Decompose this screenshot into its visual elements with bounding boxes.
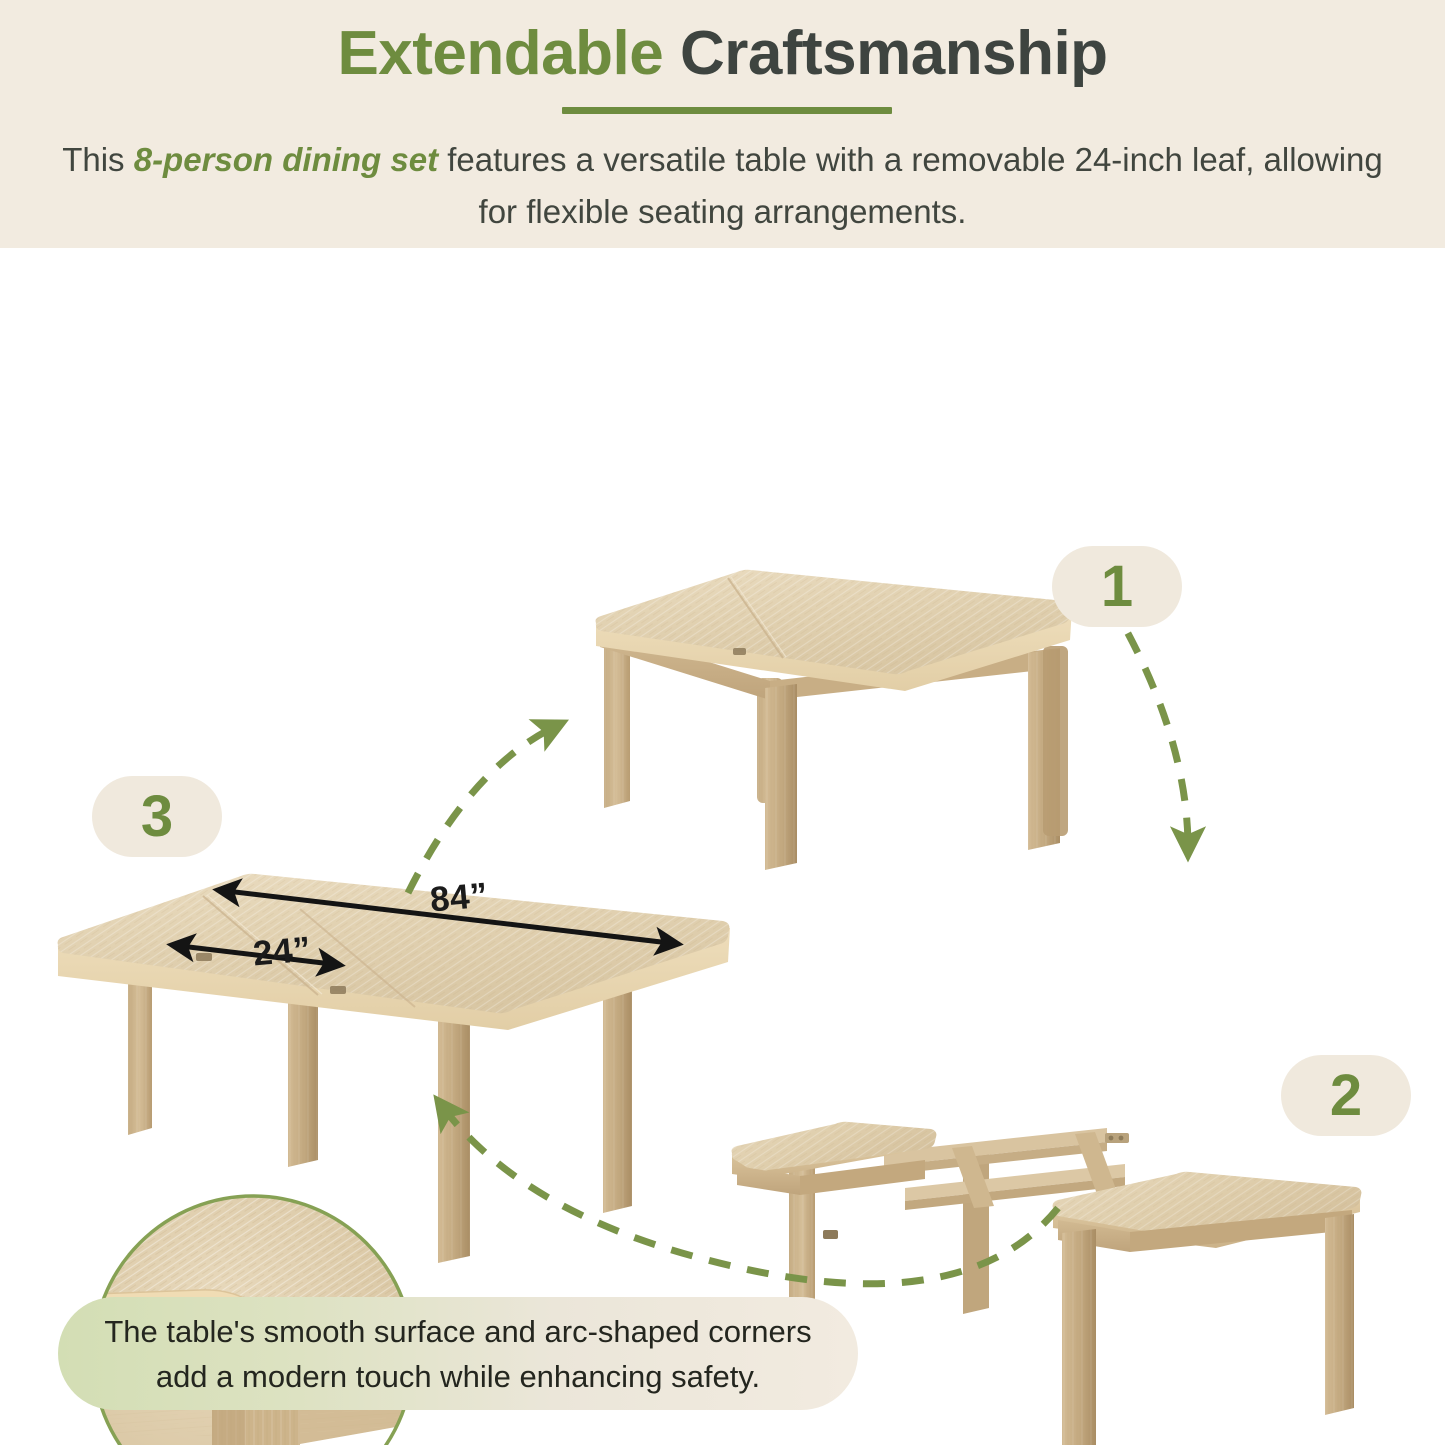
step-badge-1-label: 1 bbox=[1101, 558, 1133, 616]
page-title-accent: Extendable bbox=[337, 19, 663, 88]
step-badge-2: 2 bbox=[1281, 1055, 1411, 1136]
flow-arrow-3-to-1 bbox=[408, 726, 556, 893]
step-badge-1: 1 bbox=[1052, 546, 1182, 627]
step-badge-2-label: 2 bbox=[1330, 1067, 1362, 1125]
subtitle-post: features a versatile table with a remova… bbox=[438, 141, 1383, 230]
page-title: Extendable Craftsmanship bbox=[0, 18, 1445, 89]
subtitle-accent: 8-person dining set bbox=[134, 141, 438, 178]
page-title-rest: Craftsmanship bbox=[680, 19, 1108, 88]
step-badge-3: 3 bbox=[92, 776, 222, 857]
subtitle-pre: This bbox=[62, 141, 134, 178]
header-banner: Extendable Craftsmanship This 8-person d… bbox=[0, 0, 1445, 248]
dining-table-extended bbox=[58, 874, 730, 1263]
dining-table-closed bbox=[596, 570, 1072, 870]
dimension-label-length: 84” bbox=[428, 876, 489, 921]
illustration-svg bbox=[0, 248, 1445, 1445]
page-subtitle: This 8-person dining set features a vers… bbox=[60, 134, 1385, 238]
illustration-stage: 1 2 3 84” 24” bbox=[0, 248, 1445, 1445]
dimension-label-leaf: 24” bbox=[251, 930, 312, 975]
bottom-caption-text: The table's smooth surface and arc-shape… bbox=[58, 1309, 858, 1399]
title-divider bbox=[562, 107, 892, 114]
step-badge-3-label: 3 bbox=[141, 788, 173, 846]
bottom-caption-pill: The table's smooth surface and arc-shape… bbox=[58, 1297, 858, 1410]
